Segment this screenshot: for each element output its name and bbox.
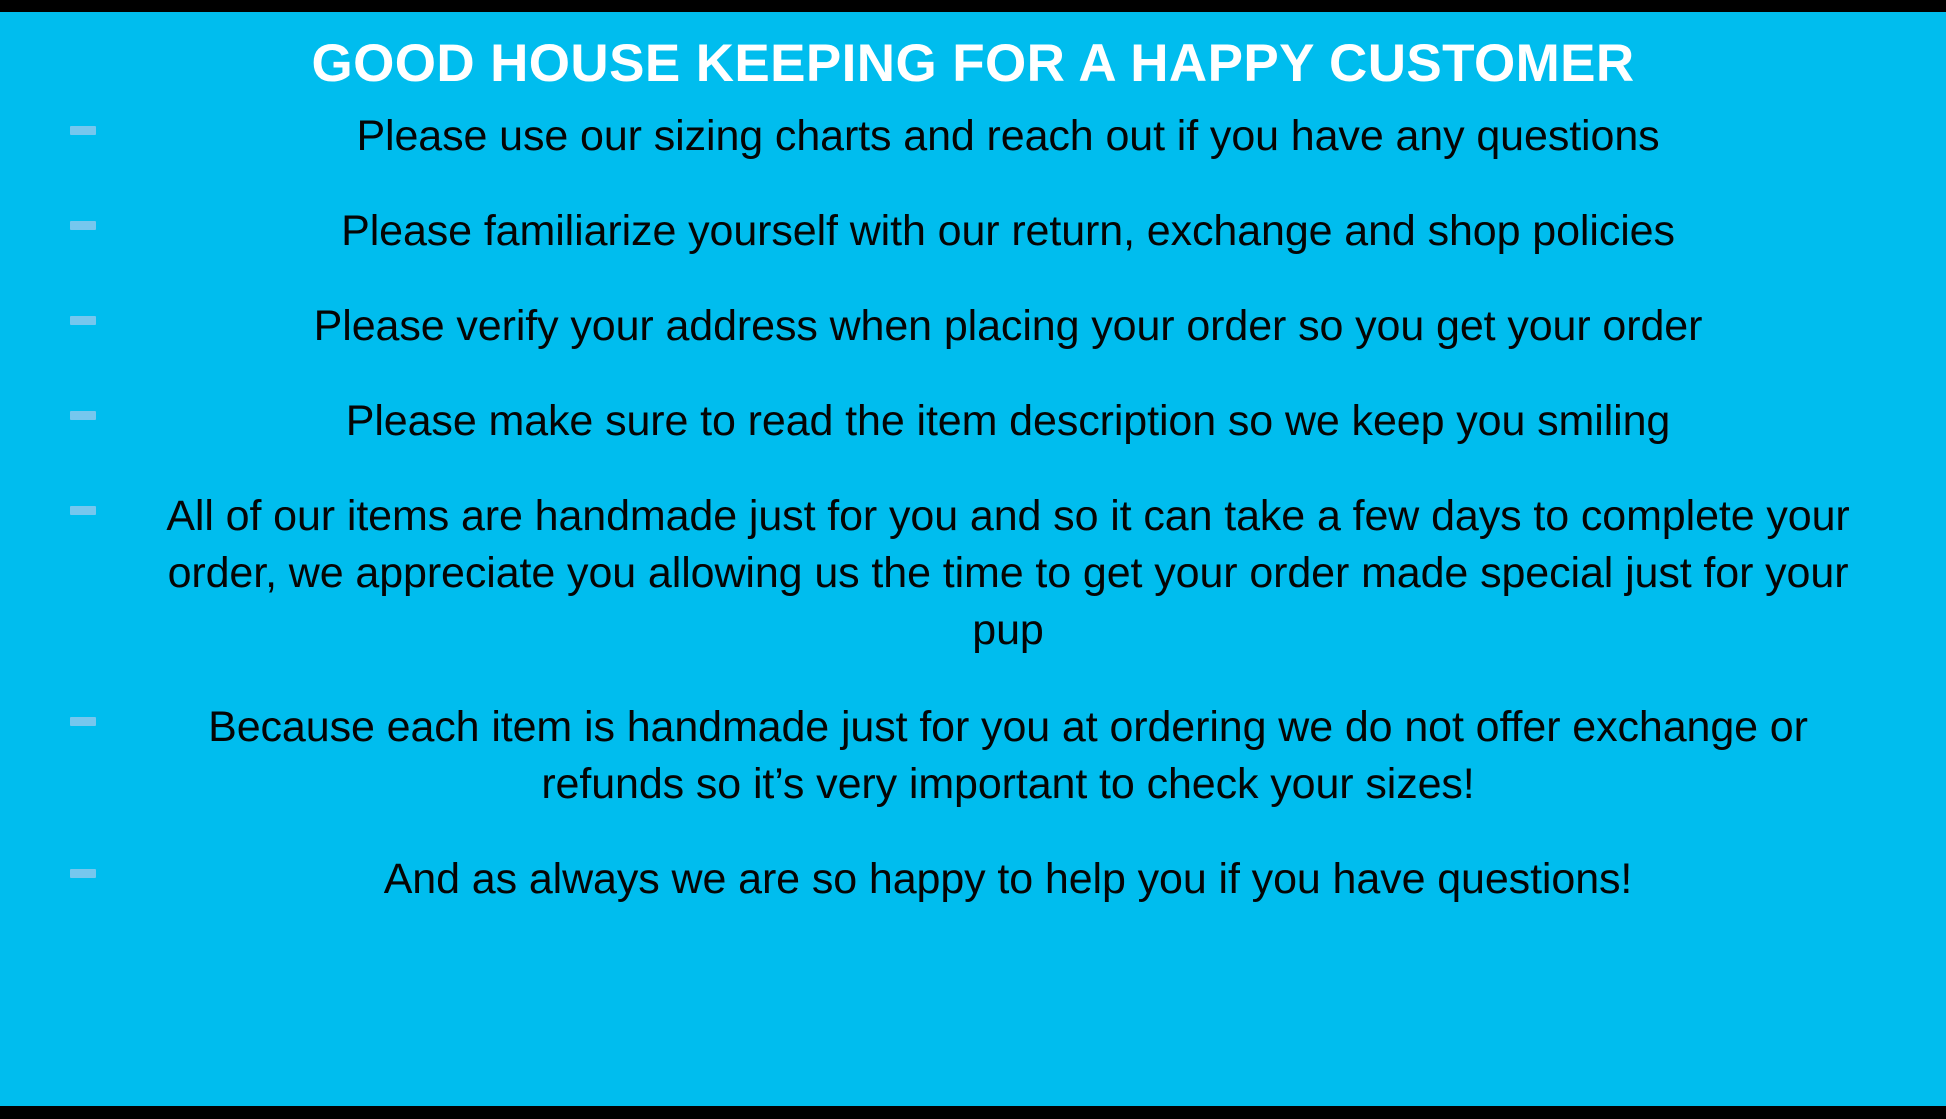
list-item: Please verify your address when placing …: [0, 298, 1946, 355]
bullet-list: Please use our sizing charts and reach o…: [0, 108, 1946, 908]
list-item: Please make sure to read the item descri…: [0, 393, 1946, 450]
list-item-text: Please make sure to read the item descri…: [63, 393, 1883, 450]
list-item-text: And as always we are so happy to help yo…: [63, 851, 1883, 908]
list-item: And as always we are so happy to help yo…: [0, 851, 1946, 908]
list-item-text: Because each item is handmade just for y…: [63, 699, 1883, 813]
list-item-text: All of our items are handmade just for y…: [63, 488, 1883, 659]
dash-bullet-icon: [70, 411, 96, 420]
slide-root: GOOD HOUSE KEEPING FOR A HAPPY CUSTOMER …: [0, 0, 1946, 1119]
dash-bullet-icon: [70, 506, 96, 515]
list-item: All of our items are handmade just for y…: [0, 488, 1946, 659]
list-item: Please use our sizing charts and reach o…: [0, 108, 1946, 165]
page-title: GOOD HOUSE KEEPING FOR A HAPPY CUSTOMER: [0, 36, 1946, 92]
dash-bullet-icon: [70, 316, 96, 325]
letterbox-bottom: [0, 1106, 1946, 1119]
dash-bullet-icon: [70, 126, 96, 135]
dash-bullet-icon: [70, 869, 96, 878]
list-item: Because each item is handmade just for y…: [0, 699, 1946, 813]
dash-bullet-icon: [70, 221, 96, 230]
list-item-text: Please verify your address when placing …: [63, 298, 1883, 355]
letterbox-top: [0, 0, 1946, 12]
slide-canvas: GOOD HOUSE KEEPING FOR A HAPPY CUSTOMER …: [0, 12, 1946, 1106]
list-item: Please familiarize yourself with our ret…: [0, 203, 1946, 260]
list-item-text: Please familiarize yourself with our ret…: [63, 203, 1883, 260]
dash-bullet-icon: [70, 717, 96, 726]
list-item-text: Please use our sizing charts and reach o…: [63, 108, 1883, 165]
